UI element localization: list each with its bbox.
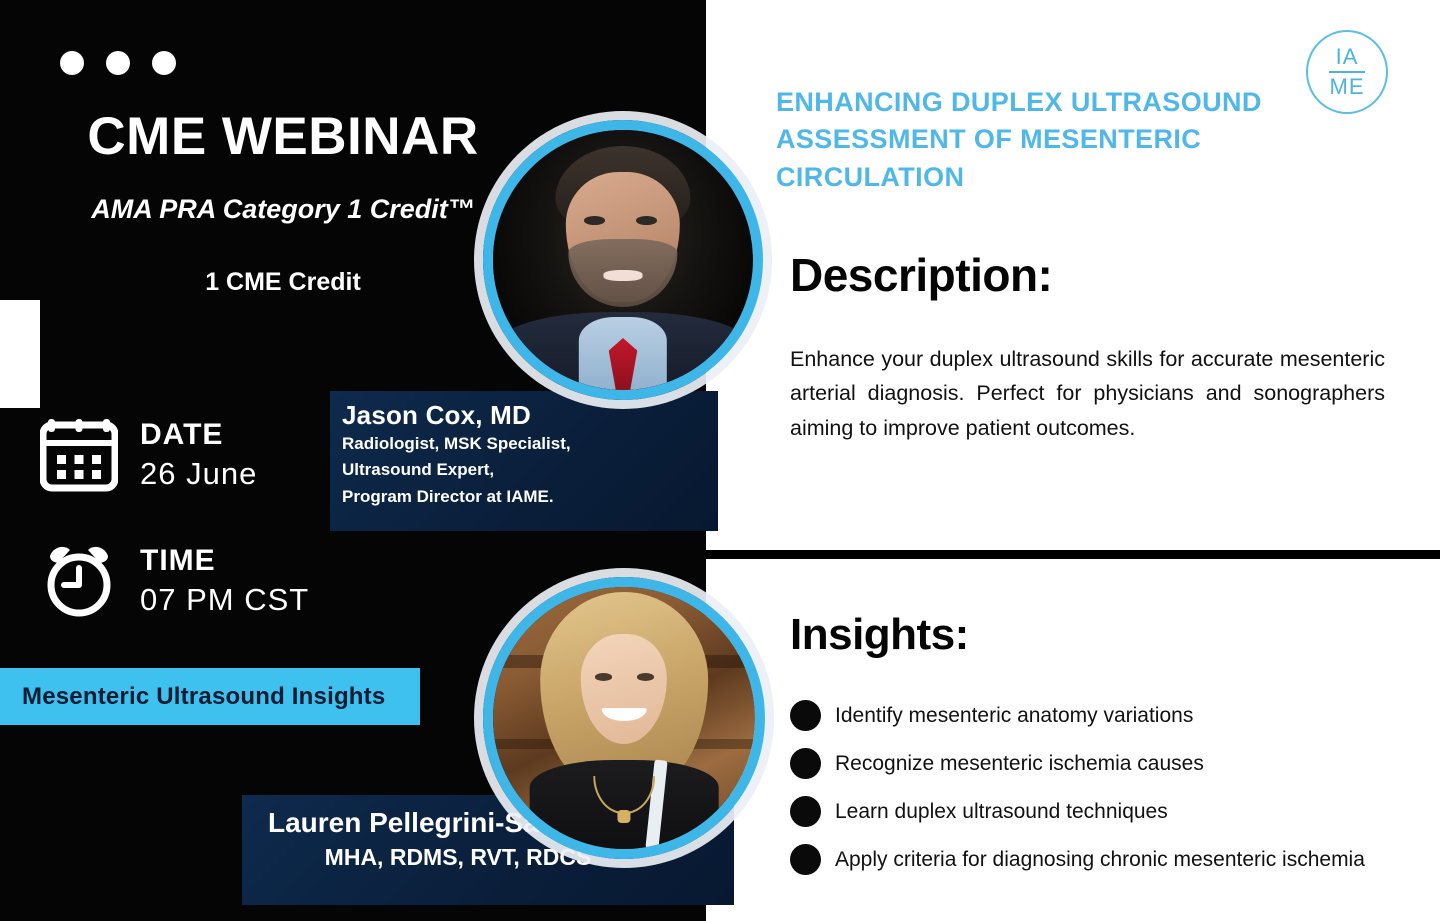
date-row: DATE 26 June bbox=[40, 414, 257, 497]
speaker-role-line: Program Director at IAME. bbox=[342, 485, 718, 510]
topic-banner-label: Mesenteric Ultrasound Insights bbox=[0, 683, 385, 711]
webinar-headline: Enhancing Duplex Ultrasound Assessment o… bbox=[776, 84, 1376, 196]
list-item: Learn duplex ultrasound techniques bbox=[790, 796, 1410, 827]
cme-credit-label: 1 CME Credit bbox=[0, 268, 566, 297]
avatar bbox=[493, 587, 755, 849]
avatar bbox=[493, 130, 753, 390]
insight-text: Recognize mesenteric ischemia causes bbox=[835, 751, 1204, 776]
speaker-name: Jason Cox, MD bbox=[342, 401, 718, 430]
date-label: DATE bbox=[140, 418, 257, 451]
bullet-icon bbox=[790, 700, 821, 731]
bullet-icon bbox=[790, 796, 821, 827]
speaker-card-jason-cox: Jason Cox, MD Radiologist, MSK Specialis… bbox=[330, 391, 718, 531]
insights-heading: Insights: bbox=[790, 610, 969, 660]
bullet-icon bbox=[790, 844, 821, 875]
insights-list: Identify mesenteric anatomy variations R… bbox=[790, 700, 1410, 892]
description-heading: Description: bbox=[790, 248, 1052, 302]
section-divider bbox=[706, 550, 1440, 559]
speaker-role-line: Ultrasound Expert, bbox=[342, 458, 718, 483]
cme-webinar-title: CME WEBINAR bbox=[0, 106, 566, 167]
window-dot-3-icon bbox=[152, 51, 176, 75]
alarm-clock-icon bbox=[40, 540, 118, 623]
iame-logo-bottom: ME bbox=[1330, 76, 1365, 98]
list-item: Recognize mesenteric ischemia causes bbox=[790, 748, 1410, 779]
iame-logo-top: IA bbox=[1336, 46, 1359, 68]
description-body: Enhance your duplex ultrasound skills fo… bbox=[790, 342, 1385, 445]
left-edge-notch bbox=[0, 300, 40, 408]
time-label: TIME bbox=[140, 544, 309, 577]
window-dot-1-icon bbox=[60, 51, 84, 75]
iame-logo-bar bbox=[1329, 71, 1365, 73]
bullet-icon bbox=[790, 748, 821, 779]
time-value: 07 PM CST bbox=[140, 581, 309, 620]
window-dot-2-icon bbox=[106, 51, 130, 75]
speaker-photo-jason-cox bbox=[483, 120, 763, 400]
window-dots bbox=[60, 51, 176, 75]
speaker-role-line: Radiologist, MSK Specialist, bbox=[342, 432, 718, 457]
webinar-poster: CME WEBINAR AMA PRA Category 1 Credit™ 1… bbox=[0, 0, 1440, 921]
list-item: Apply criteria for diagnosing chronic me… bbox=[790, 844, 1410, 875]
topic-banner: Mesenteric Ultrasound Insights bbox=[0, 668, 420, 725]
insight-text: Learn duplex ultrasound techniques bbox=[835, 799, 1168, 824]
insight-text: Apply criteria for diagnosing chronic me… bbox=[835, 847, 1365, 872]
iame-logo-icon: IA ME bbox=[1306, 30, 1388, 114]
insight-text: Identify mesenteric anatomy variations bbox=[835, 703, 1193, 728]
calendar-icon bbox=[40, 414, 118, 497]
speaker-photo-lauren-pellegrini-salsman bbox=[483, 577, 765, 859]
time-row: TIME 07 PM CST bbox=[40, 540, 309, 623]
ama-credit-label: AMA PRA Category 1 Credit™ bbox=[0, 192, 566, 228]
date-value: 26 June bbox=[140, 455, 257, 494]
list-item: Identify mesenteric anatomy variations bbox=[790, 700, 1410, 731]
